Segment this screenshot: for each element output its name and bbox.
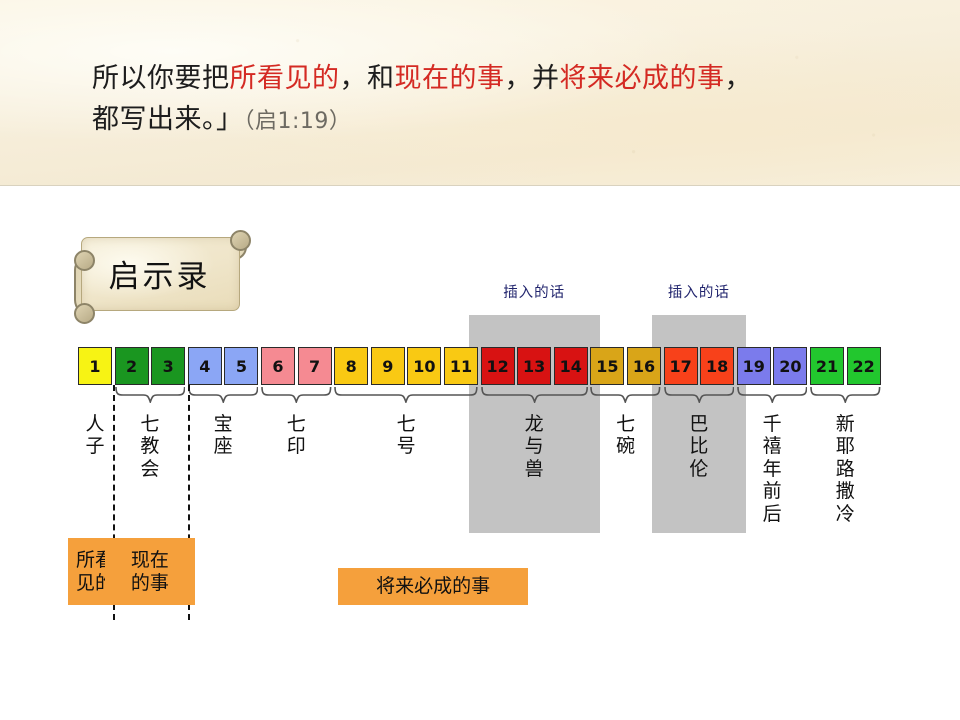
section-brace bbox=[664, 386, 735, 403]
chapter-cell[interactable]: 20 bbox=[773, 347, 807, 385]
section-brace bbox=[115, 386, 186, 403]
section-label-char: 七 bbox=[590, 413, 661, 435]
section-brace bbox=[810, 386, 881, 403]
section-label-char: 兽 bbox=[481, 458, 588, 480]
chapter-cell[interactable]: 10 bbox=[407, 347, 441, 385]
section-label-char: 冷 bbox=[810, 503, 881, 525]
section-label-char: 后 bbox=[737, 503, 808, 525]
section-label-char: 比 bbox=[664, 435, 735, 457]
section-brace bbox=[590, 386, 661, 403]
section-brace bbox=[188, 386, 259, 403]
verse-part-5: 将来必成的事 bbox=[560, 63, 725, 94]
section-label: 宝座 bbox=[188, 413, 259, 458]
section-label-char: 七 bbox=[334, 413, 478, 435]
section-label-char: 七 bbox=[115, 413, 186, 435]
category-tag-line: 将来必成的事 bbox=[376, 575, 490, 598]
verse-part-1: 所看见的 bbox=[230, 63, 340, 94]
chapter-cell[interactable]: 17 bbox=[664, 347, 698, 385]
section-label-char: 教 bbox=[115, 435, 186, 457]
chapter-cell[interactable]: 1 bbox=[78, 347, 112, 385]
chapter-cell[interactable]: 6 bbox=[261, 347, 295, 385]
verse-part-4: ，并 bbox=[505, 63, 560, 94]
section-brace bbox=[334, 386, 478, 403]
section-label: 七印 bbox=[261, 413, 332, 458]
section-label: 千禧年前后 bbox=[737, 413, 808, 525]
category-tag[interactable]: 将来必成的事 bbox=[338, 568, 528, 605]
verse-part-3: 现在的事 bbox=[395, 63, 505, 94]
category-tag-line: 现在 bbox=[131, 549, 169, 572]
verse-part-6: ， bbox=[725, 63, 753, 94]
section-label-char: 子 bbox=[78, 435, 112, 457]
section-brace bbox=[261, 386, 332, 403]
scripture-verse: 所以你要把所看见的，和现在的事，并将来必成的事， 都写出来。」（启1:19） bbox=[92, 58, 902, 140]
section-label-char: 巴 bbox=[664, 413, 735, 435]
section-label-char: 耶 bbox=[810, 435, 881, 457]
section-label: 龙与兽 bbox=[481, 413, 588, 480]
section-label-char: 号 bbox=[334, 435, 478, 457]
section-brace bbox=[481, 386, 588, 403]
verse-part-2: ，和 bbox=[340, 63, 395, 94]
chapter-cell[interactable]: 13 bbox=[517, 347, 551, 385]
chapter-cell[interactable]: 8 bbox=[334, 347, 368, 385]
verse-line-1: 所以你要把所看见的，和现在的事，并将来必成的事， bbox=[92, 58, 902, 99]
section-label-char: 人 bbox=[78, 413, 112, 435]
chapter-cell[interactable]: 21 bbox=[810, 347, 844, 385]
section-label-char: 印 bbox=[261, 435, 332, 457]
chapter-cell[interactable]: 5 bbox=[224, 347, 258, 385]
chapter-cell[interactable]: 3 bbox=[151, 347, 185, 385]
section-label-char: 千 bbox=[737, 413, 808, 435]
insert-label: 插入的话 bbox=[652, 281, 747, 302]
chapter-cell[interactable]: 14 bbox=[554, 347, 588, 385]
chapter-cell[interactable]: 15 bbox=[590, 347, 624, 385]
section-label-char: 新 bbox=[810, 413, 881, 435]
header-parchment-band: 所以你要把所看见的，和现在的事，并将来必成的事， 都写出来。」（启1:19） bbox=[0, 0, 960, 186]
section-label-char: 碗 bbox=[590, 435, 661, 457]
section-label-char: 龙 bbox=[481, 413, 588, 435]
insert-label: 插入的话 bbox=[469, 281, 600, 302]
chapter-cell[interactable]: 4 bbox=[188, 347, 222, 385]
chapter-cell[interactable]: 12 bbox=[481, 347, 515, 385]
section-label: 七教会 bbox=[115, 413, 186, 480]
chapter-cell[interactable]: 11 bbox=[444, 347, 478, 385]
section-label: 人子 bbox=[78, 413, 112, 458]
section-label-char: 会 bbox=[115, 458, 186, 480]
section-label-char: 伦 bbox=[664, 458, 735, 480]
category-tag-line: 的事 bbox=[131, 572, 169, 595]
section-label-char: 七 bbox=[261, 413, 332, 435]
chapter-cell[interactable]: 18 bbox=[700, 347, 734, 385]
chapter-cell[interactable]: 7 bbox=[298, 347, 332, 385]
chapter-cell[interactable]: 22 bbox=[847, 347, 881, 385]
section-label: 新耶路撒冷 bbox=[810, 413, 881, 525]
chapter-cell[interactable]: 2 bbox=[115, 347, 149, 385]
section-brace bbox=[737, 386, 808, 403]
chapter-cell[interactable]: 16 bbox=[627, 347, 661, 385]
revelation-outline-chart: 插入的话插入的话12345678910111213141516171819202… bbox=[0, 186, 960, 720]
verse-line2-text: 都写出来。」 bbox=[92, 104, 244, 135]
section-label-char: 年 bbox=[737, 458, 808, 480]
section-label-char: 撒 bbox=[810, 480, 881, 502]
verse-part-0: 所以你要把 bbox=[92, 63, 230, 94]
section-label-char: 宝 bbox=[188, 413, 259, 435]
section-label: 七碗 bbox=[590, 413, 661, 458]
chapter-cell[interactable]: 19 bbox=[737, 347, 771, 385]
section-label-char: 禧 bbox=[737, 435, 808, 457]
section-label-char: 前 bbox=[737, 480, 808, 502]
category-tag[interactable]: 现在的事 bbox=[105, 538, 196, 605]
section-label-char: 路 bbox=[810, 458, 881, 480]
verse-line-2: 都写出来。」（启1:19） bbox=[92, 99, 902, 140]
chapter-cell[interactable]: 9 bbox=[371, 347, 405, 385]
section-label-char: 与 bbox=[481, 435, 588, 457]
verse-reference: （启1:19） bbox=[244, 109, 352, 134]
section-label-char: 座 bbox=[188, 435, 259, 457]
section-label: 巴比伦 bbox=[664, 413, 735, 480]
section-label: 七号 bbox=[334, 413, 478, 458]
